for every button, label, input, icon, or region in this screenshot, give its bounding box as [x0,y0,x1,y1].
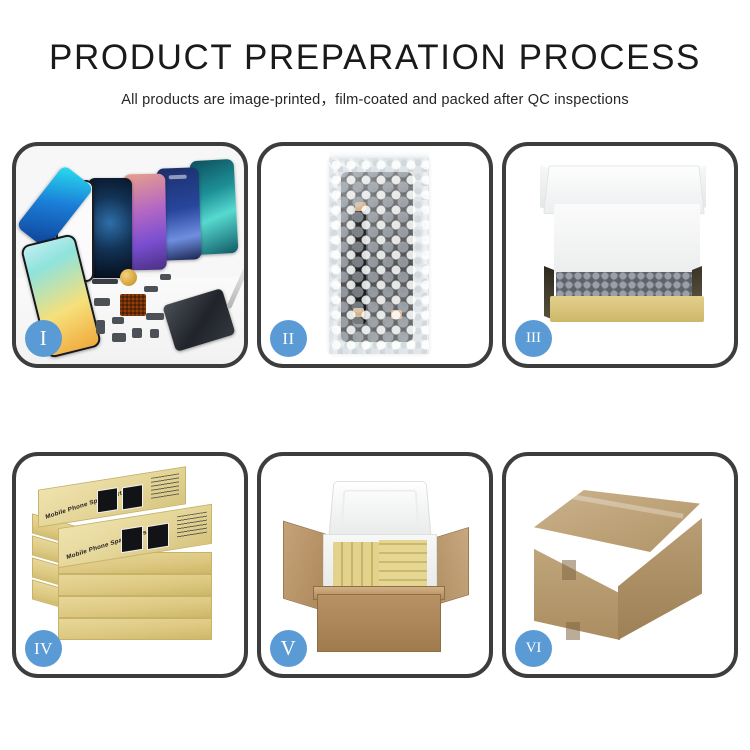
step-badge-3: III [515,320,552,357]
process-step-grid: I II III [12,142,738,678]
step-badge-5: V [270,630,307,667]
step-badge-2: II [270,320,307,357]
page-title: PRODUCT PREPARATION PROCESS [0,0,750,77]
process-step-panel-1[interactable]: I [12,142,248,368]
process-step-panel-6[interactable]: VI [502,452,738,678]
process-step-panel-2[interactable]: II [257,142,493,368]
step-badge-4: IV [25,630,62,667]
page-subtitle: All products are image-printed，film-coat… [0,77,750,109]
page-header: PRODUCT PREPARATION PROCESS All products… [0,0,750,109]
process-step-panel-3[interactable]: III [502,142,738,368]
process-step-panel-4[interactable]: Mobile Phone Spare Parts Mobile Phone Sp… [12,452,248,678]
step-badge-6: VI [515,630,552,667]
process-step-panel-5[interactable]: V [257,452,493,678]
step-badge-1: I [25,320,62,357]
